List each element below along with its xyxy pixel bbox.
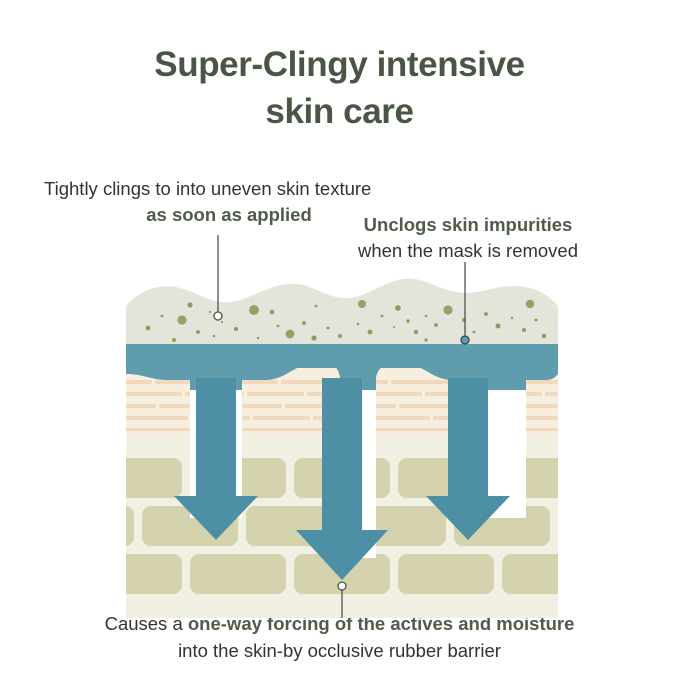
infographic-canvas: Super-Clingy intensive skin care Tightly… [0,0,679,679]
page-title: Super-Clingy intensive skin care [0,42,679,136]
callout-left-regular: Tightly clings to into uneven skin textu… [44,176,414,202]
leader-dot-left [214,312,222,320]
leader-dot-right [461,336,469,344]
leader-dot-bottom [338,582,346,590]
caption-bottom: Causes a one-way forcing of the actives … [0,611,679,665]
title-line-1: Super-Clingy intensive [0,42,679,89]
caption-line-2: into the skin-by occlusive rubber barrie… [0,638,679,665]
title-line-2: skin care [0,89,679,136]
skin-cross-section-diagram [126,228,558,618]
mask-layer [126,228,558,344]
